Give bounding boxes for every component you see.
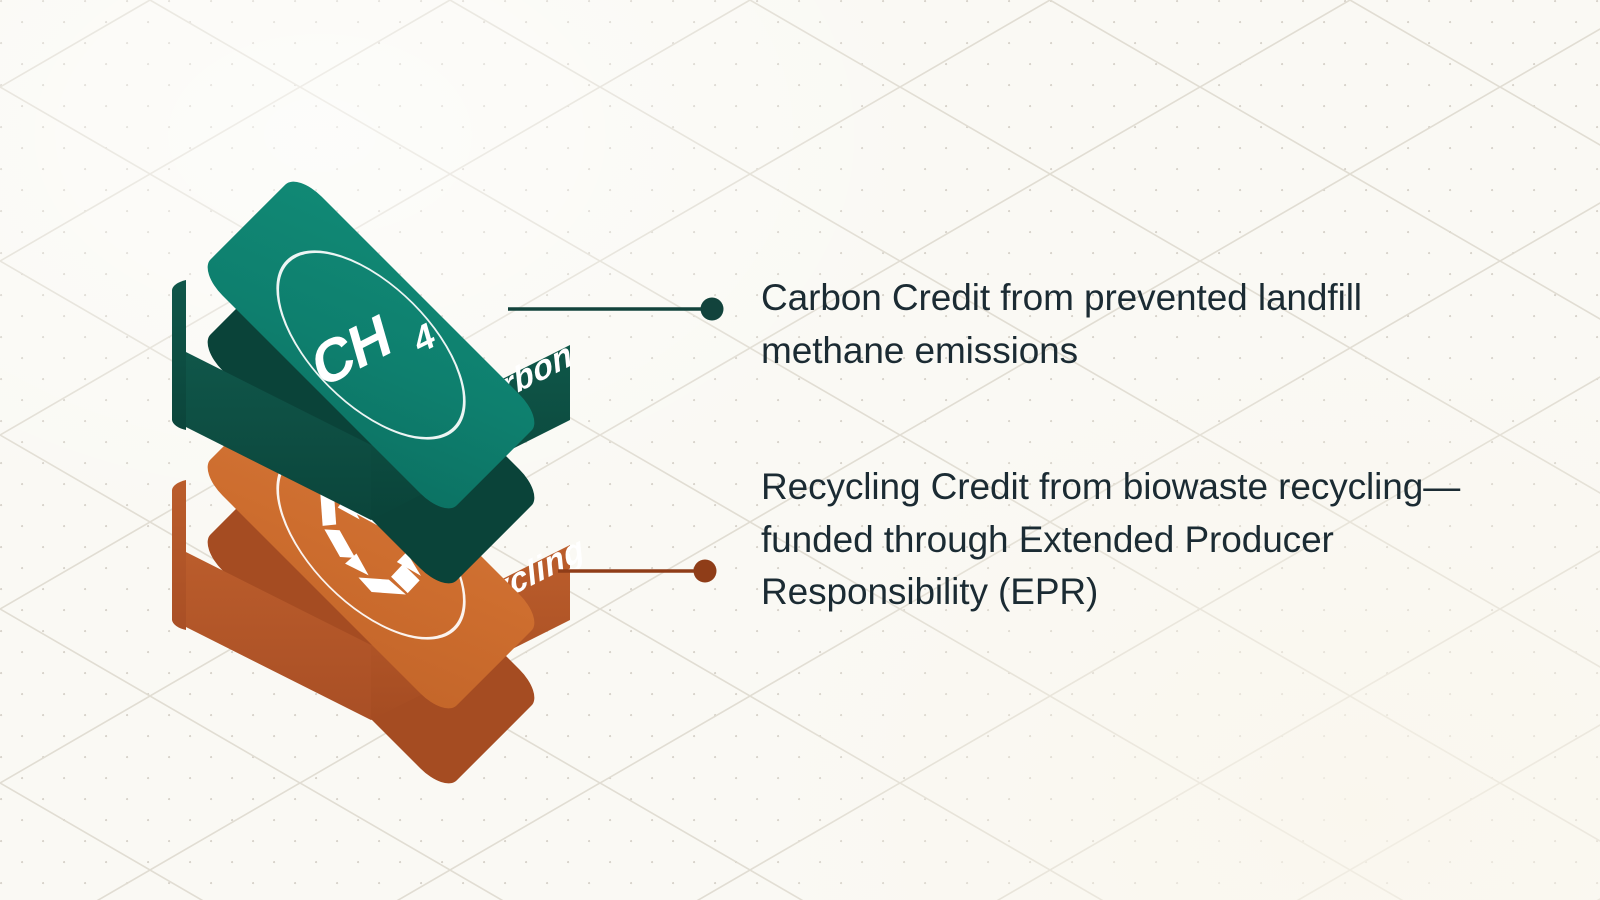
diagram-canvas: Recycling xyxy=(0,0,1600,900)
callout-recycling-text: Recycling Credit from biowaste recycling… xyxy=(761,461,1481,619)
recycling-corner-patch xyxy=(172,480,186,630)
carbon-connector-dot[interactable] xyxy=(701,298,724,321)
isometric-blocks-scene: Recycling xyxy=(0,0,1600,900)
recycling-connector-dot[interactable] xyxy=(694,560,717,583)
connector-carbon xyxy=(508,298,724,321)
callout-carbon-text: Carbon Credit from prevented landfill me… xyxy=(761,272,1441,377)
carbon-corner-patch xyxy=(172,280,186,430)
